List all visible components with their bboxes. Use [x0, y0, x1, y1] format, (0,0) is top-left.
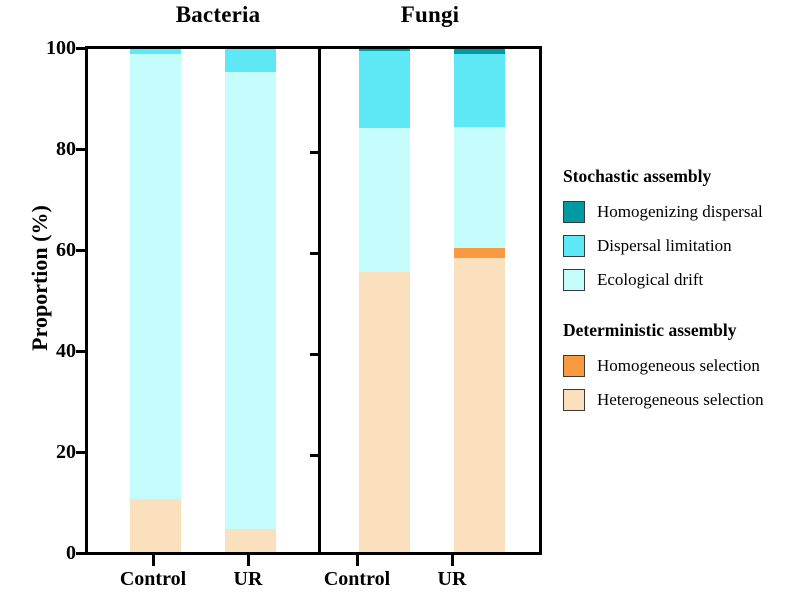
- bar-segment-ecological-drift: [130, 54, 181, 499]
- y-tick-mark-20: [76, 451, 85, 454]
- y-tick-label-40: 40: [30, 340, 76, 363]
- subpanel-bacteria: [88, 49, 318, 552]
- legend-label-homogeneous-selection: Homogeneous selection: [597, 356, 760, 376]
- bar-segment-ecological-drift: [359, 128, 410, 272]
- bar-fungi-control: [359, 49, 410, 552]
- panel-title-bacteria: Bacteria: [128, 2, 308, 28]
- legend-swatch-homogeneous-selection: [563, 355, 585, 377]
- y-tick-label-80: 80: [30, 138, 76, 161]
- bar-segment-dispersal-limitation: [225, 49, 276, 72]
- bar-segment-heterogeneous-selection: [359, 272, 410, 552]
- y-axis-tick-labels: 100806040200: [30, 0, 76, 605]
- bar-segment-heterogeneous-selection: [130, 499, 181, 552]
- y-tick-mark-40: [76, 350, 85, 353]
- divider-tick-60: [310, 252, 318, 255]
- legend-swatch-ecological-drift: [563, 269, 585, 291]
- y-tick-mark-100: [76, 47, 85, 50]
- plot-area: [85, 46, 542, 555]
- bar-segment-dispersal-limitation: [359, 51, 410, 128]
- legend-swatch-homogenizing-dispersal: [563, 201, 585, 223]
- legend-item-homogeneous-selection[interactable]: Homogeneous selection: [563, 349, 799, 383]
- legend: Stochastic assembly Homogenizing dispers…: [563, 166, 799, 417]
- x-tick-mark-0: [152, 555, 155, 566]
- legend-label-ecological-drift: Ecological drift: [597, 270, 703, 290]
- legend-item-homogenizing-dispersal[interactable]: Homogenizing dispersal: [563, 195, 799, 229]
- divider-tick-20: [310, 454, 318, 457]
- legend-group-title-deterministic: Deterministic assembly: [563, 320, 799, 341]
- y-tick-label-20: 20: [30, 441, 76, 464]
- y-tick-mark-80: [76, 148, 85, 151]
- bar-bacteria-control: [130, 49, 181, 552]
- legend-items-stochastic: Homogenizing dispersalDispersal limitati…: [563, 195, 799, 297]
- y-tick-label-0: 0: [30, 542, 76, 565]
- legend-item-heterogeneous-selection[interactable]: Heterogeneous selection: [563, 383, 799, 417]
- divider-tick-40: [310, 353, 318, 356]
- x-tick-mark-2: [356, 555, 359, 566]
- legend-item-ecological-drift[interactable]: Ecological drift: [563, 263, 799, 297]
- legend-group-title-stochastic: Stochastic assembly: [563, 166, 799, 187]
- divider-tick-80: [310, 151, 318, 154]
- subpanel-fungi: [321, 49, 542, 552]
- legend-swatch-dispersal-limitation: [563, 235, 585, 257]
- legend-label-heterogeneous-selection: Heterogeneous selection: [597, 390, 764, 410]
- bar-segment-heterogeneous-selection: [225, 529, 276, 552]
- x-tick-label-ur-3: UR: [387, 568, 517, 591]
- bar-segment-dispersal-limitation: [454, 54, 505, 127]
- bar-segment-heterogeneous-selection: [454, 258, 505, 552]
- bar-segment-homogeneous-selection: [454, 248, 505, 259]
- y-tick-label-60: 60: [30, 239, 76, 262]
- legend-label-homogenizing-dispersal: Homogenizing dispersal: [597, 202, 763, 222]
- bar-segment-ecological-drift: [454, 127, 505, 247]
- bar-segment-ecological-drift: [225, 72, 276, 530]
- legend-items-deterministic: Homogeneous selectionHeterogeneous selec…: [563, 349, 799, 417]
- legend-swatch-heterogeneous-selection: [563, 389, 585, 411]
- y-tick-label-100: 100: [30, 37, 76, 60]
- panel-title-fungi: Fungi: [340, 2, 520, 28]
- y-tick-mark-60: [76, 249, 85, 252]
- x-tick-mark-1: [247, 555, 250, 566]
- chart-root: Bacteria Fungi Proportion (%) 1008060402…: [0, 0, 800, 605]
- x-tick-mark-3: [451, 555, 454, 566]
- bar-fungi-ur: [454, 49, 505, 552]
- legend-label-dispersal-limitation: Dispersal limitation: [597, 236, 732, 256]
- legend-item-dispersal-limitation[interactable]: Dispersal limitation: [563, 229, 799, 263]
- y-tick-mark-0: [76, 552, 85, 555]
- bar-bacteria-ur: [225, 49, 276, 552]
